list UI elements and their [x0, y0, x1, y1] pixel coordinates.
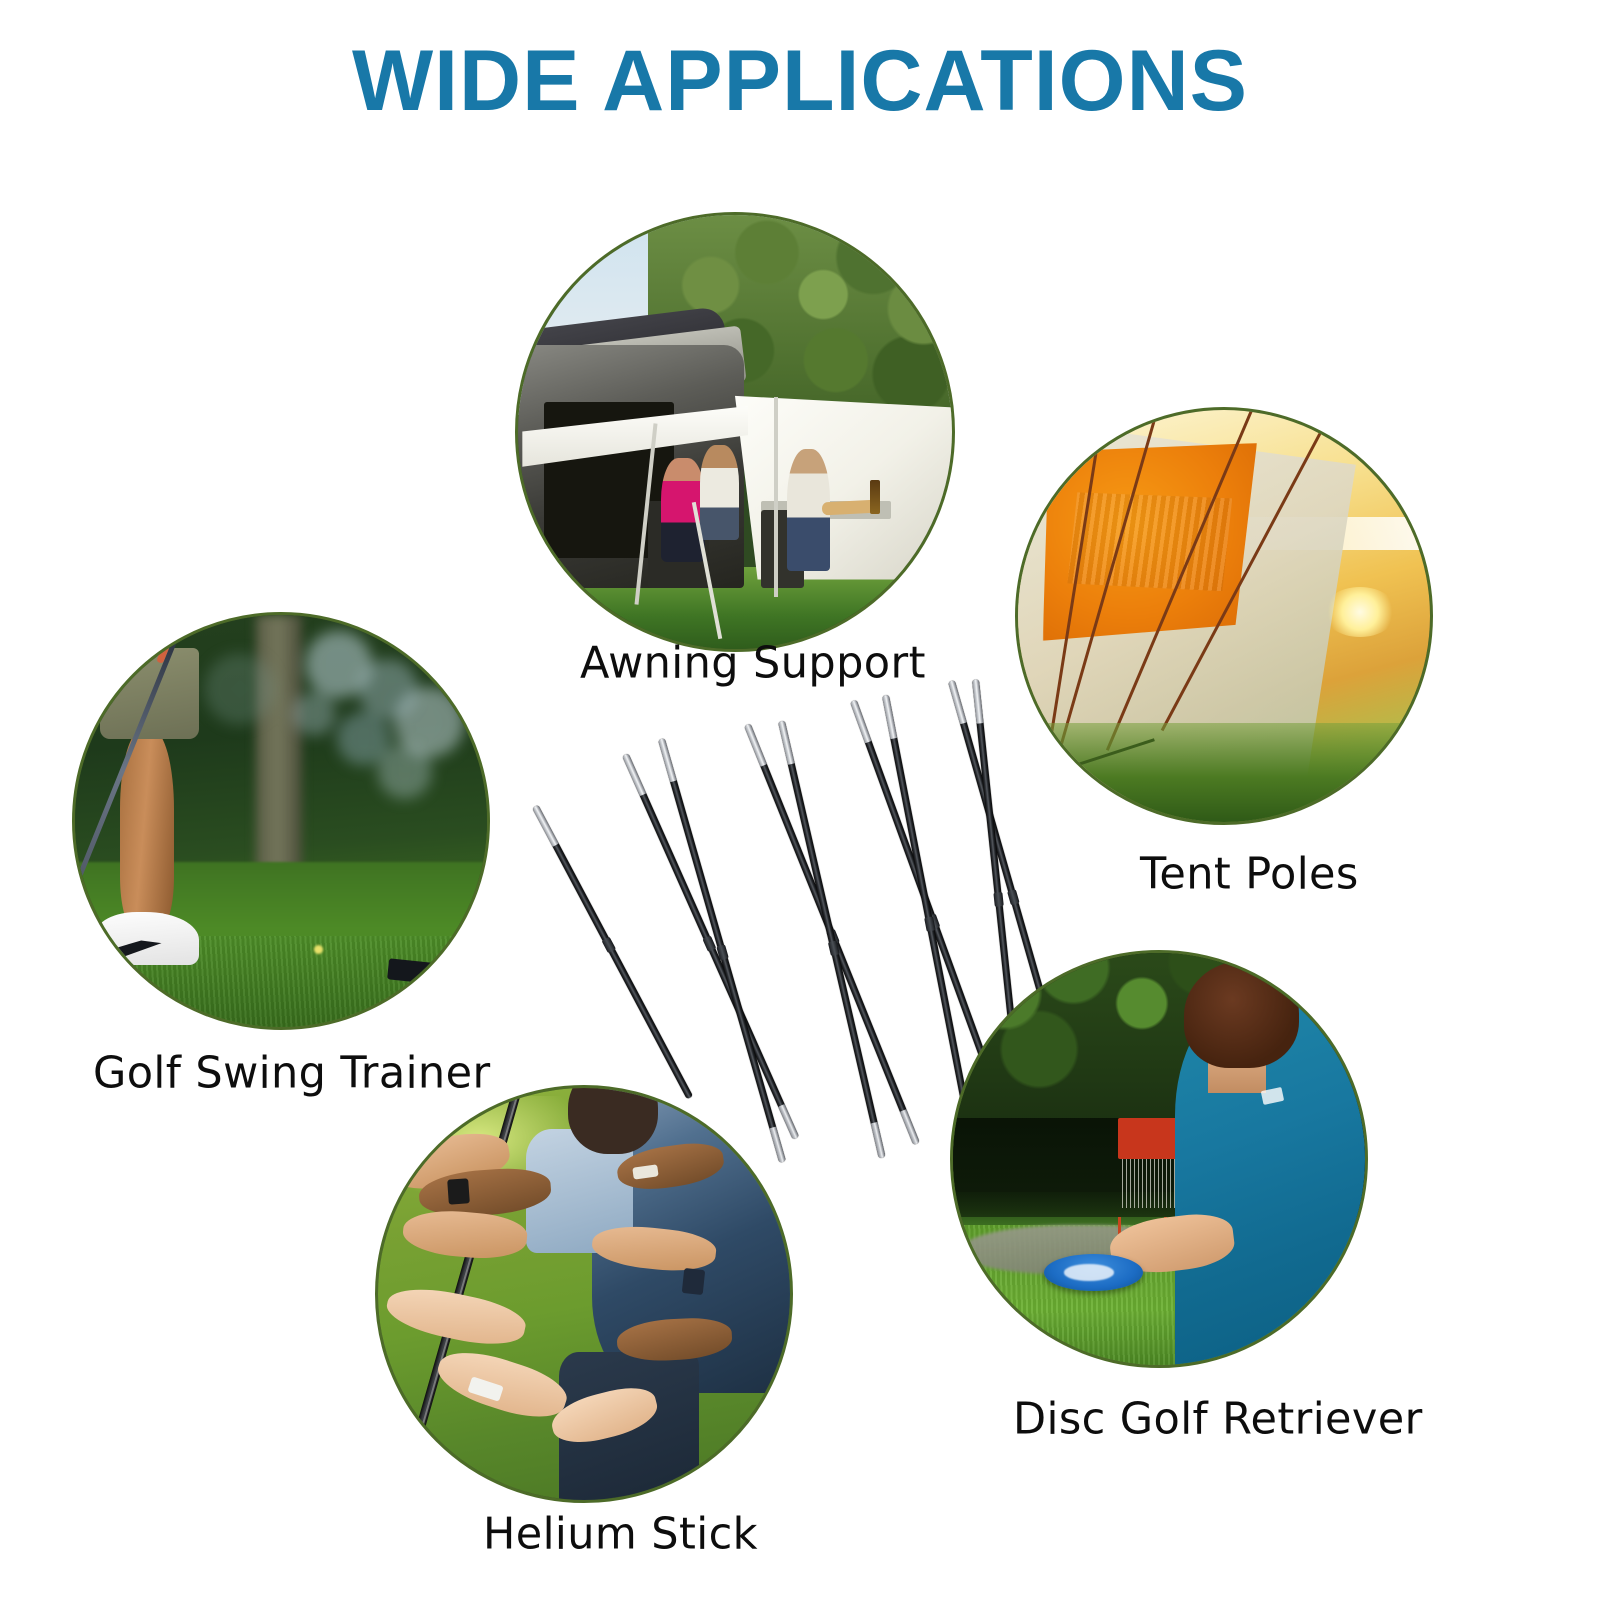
golf-swing-trainer-image	[75, 615, 487, 1027]
application-photo-helium-stick[interactable]	[375, 1085, 793, 1503]
caption-awning-support: Awning Support	[580, 638, 926, 689]
pole-shaft	[778, 720, 886, 1158]
disc-golf-retriever-image	[953, 953, 1365, 1365]
application-photo-golf-swing-trainer[interactable]	[72, 612, 490, 1030]
pole-ferrule-tip	[871, 1122, 886, 1159]
wrist-band	[682, 1268, 705, 1295]
bottle-on-table	[870, 480, 880, 515]
caption-tent-poles: Tent Poles	[1140, 849, 1359, 900]
pole-joint	[1007, 889, 1020, 905]
pole-joint	[993, 892, 1003, 907]
helium-stick-image	[378, 1088, 790, 1500]
golfer-shorts	[100, 648, 199, 739]
basket-chains	[1122, 1159, 1180, 1208]
golf-ball	[314, 945, 323, 954]
tent-poles-image	[1018, 410, 1430, 822]
pole-ferrule-tip	[972, 679, 984, 723]
person-pink-shirt	[661, 458, 704, 562]
disc-golf-basket-top	[1118, 1118, 1184, 1159]
application-photo-disc-golf-retriever[interactable]	[950, 950, 1368, 1368]
caption-golf-swing-trainer: Golf Swing Trainer	[93, 1048, 491, 1099]
disc-stamp	[1064, 1264, 1113, 1280]
player-hair	[1184, 961, 1299, 1068]
tent-pole	[778, 722, 879, 1159]
caption-disc-golf-retriever: Disc Golf Retriever	[1013, 1394, 1423, 1445]
awning-support-image	[518, 215, 952, 649]
pole-ferrule-tip	[778, 720, 795, 764]
pole-ferrule-tip	[658, 738, 677, 782]
pole-ferrule-tip	[900, 1109, 920, 1145]
participant-head	[568, 1085, 659, 1154]
wrist-band	[447, 1178, 469, 1204]
page-title: WIDE APPLICATIONS	[0, 38, 1600, 124]
application-photo-awning-support[interactable]	[515, 212, 955, 652]
sun-lens-flare	[1323, 587, 1397, 637]
golf-shoe	[96, 912, 199, 966]
application-photo-tent-poles[interactable]	[1015, 407, 1433, 825]
awning-support-pole	[774, 397, 778, 597]
pole-ferrule-tip	[882, 695, 897, 740]
pole-ferrule-tip	[744, 723, 767, 766]
tent-pole	[622, 756, 793, 1140]
person-white-shirt	[700, 445, 739, 540]
pole-ferrule-tip	[850, 700, 872, 744]
pole-ferrule-tip	[622, 753, 646, 796]
pole-ferrule-tip	[948, 680, 967, 724]
grass	[1018, 723, 1430, 822]
caption-helium-stick: Helium Stick	[483, 1509, 758, 1560]
pole-ferrule-tip	[532, 805, 559, 847]
